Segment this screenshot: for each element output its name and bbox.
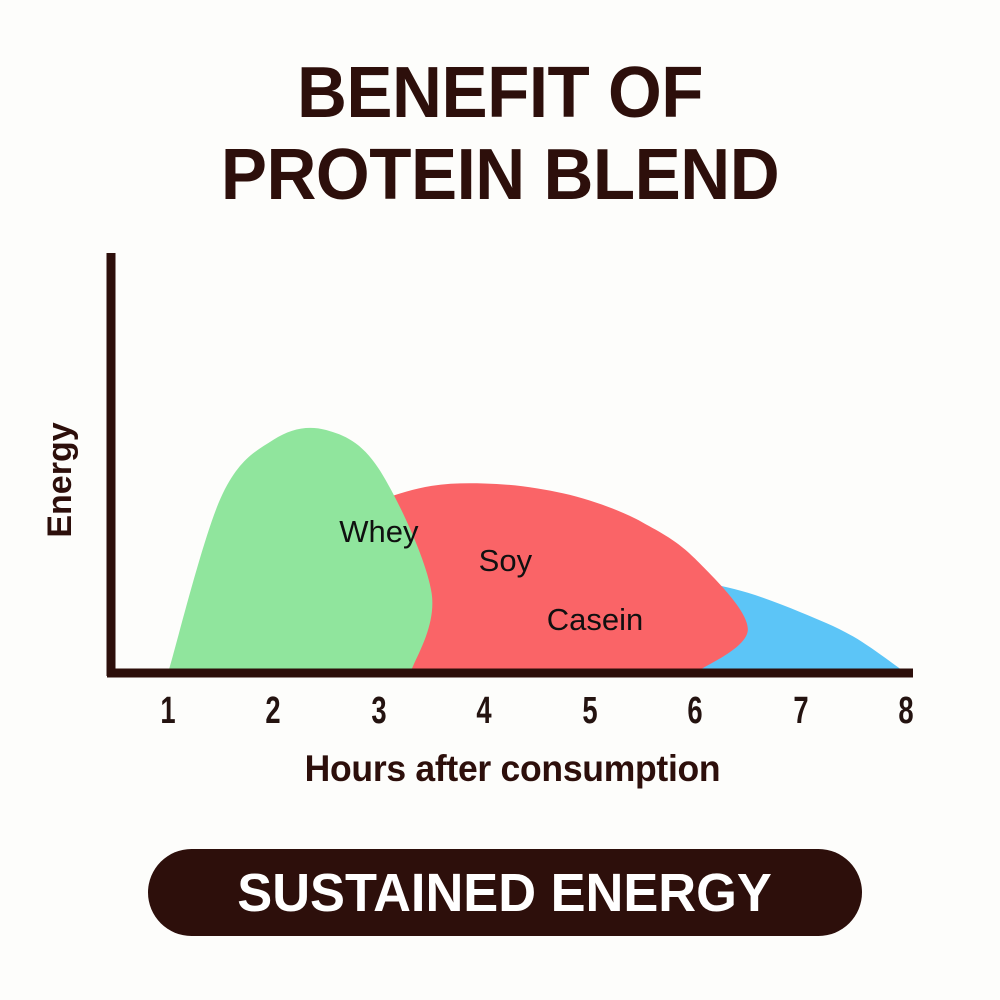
x-axis-title: Hours after consumption xyxy=(126,748,899,790)
series-label-soy: Soy xyxy=(479,543,532,579)
x-tick-label-5: 5 xyxy=(568,690,611,733)
area-series-whey xyxy=(168,428,432,673)
series-label-whey: Whey xyxy=(339,514,418,550)
series-label-casein: Casein xyxy=(547,602,644,638)
y-axis-title: Energy xyxy=(40,390,80,570)
x-tick-label-2: 2 xyxy=(252,690,295,733)
x-tick-label-7: 7 xyxy=(779,690,822,733)
x-tick-label-4: 4 xyxy=(463,690,506,733)
x-tick-label-1: 1 xyxy=(146,690,189,733)
x-tick-label-3: 3 xyxy=(357,690,400,733)
badge-label: SUSTAINED ENERGY xyxy=(238,866,773,920)
series-fill-group xyxy=(168,428,906,673)
x-tick-label-8: 8 xyxy=(884,690,927,733)
poster-canvas: BENEFIT OF PROTEIN BLEND Energy 12345678… xyxy=(0,0,1000,1000)
sustained-energy-badge: SUSTAINED ENERGY xyxy=(148,849,862,936)
x-tick-label-6: 6 xyxy=(674,690,717,733)
